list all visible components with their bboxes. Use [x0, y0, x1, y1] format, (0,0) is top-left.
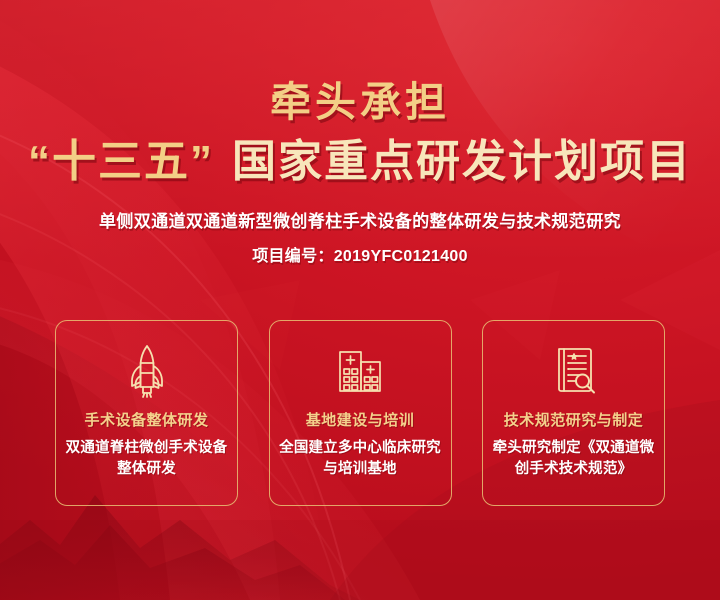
card-description: 牵头研究制定《双通道微创手术技术规范》: [490, 431, 658, 480]
document-magnifier-icon: [548, 343, 600, 399]
banner-header: 牵头承担 “十三五”国家重点研发计划项目 单侧双通道双通道新型微创脊柱手术设备的…: [0, 0, 720, 268]
highlight-card-3[interactable]: 技术规范研究与制定 牵头研究制定《双通道微创手术技术规范》: [482, 320, 665, 506]
card-title: 技术规范研究与制定: [504, 399, 644, 431]
card-description: 全国建立多中心临床研究与培训基地: [276, 431, 444, 480]
highlight-card-1[interactable]: 手术设备整体研发 双通道脊柱微创手术设备整体研发: [55, 320, 238, 506]
card-title: 手术设备整体研发: [84, 399, 208, 431]
project-number: 项目编号：2019YFC0121400: [0, 234, 720, 268]
promo-banner: 牵头承担 “十三五”国家重点研发计划项目 单侧双通道双通道新型微创脊柱手术设备的…: [0, 0, 720, 600]
card-title: 基地建设与培训: [306, 399, 415, 431]
title-line-2-rest: 国家重点研发计划项目: [232, 137, 692, 186]
highlight-card-list: 手术设备整体研发 双通道脊柱微创手术设备整体研发: [55, 320, 665, 506]
title-line-2: “十三五”国家重点研发计划项目: [0, 126, 720, 188]
rocket-icon: [121, 343, 173, 399]
title-quoted-term: “十三五”: [28, 137, 214, 186]
hospital-building-icon: [334, 343, 386, 399]
card-description: 双通道脊柱微创手术设备整体研发: [63, 431, 231, 480]
title-line-1: 牵头承担: [0, 0, 720, 126]
project-subtitle: 单侧双通道双通道新型微创脊柱手术设备的整体研发与技术规范研究: [0, 188, 720, 234]
highlight-card-2[interactable]: 基地建设与培训 全国建立多中心临床研究与培训基地: [269, 320, 452, 506]
